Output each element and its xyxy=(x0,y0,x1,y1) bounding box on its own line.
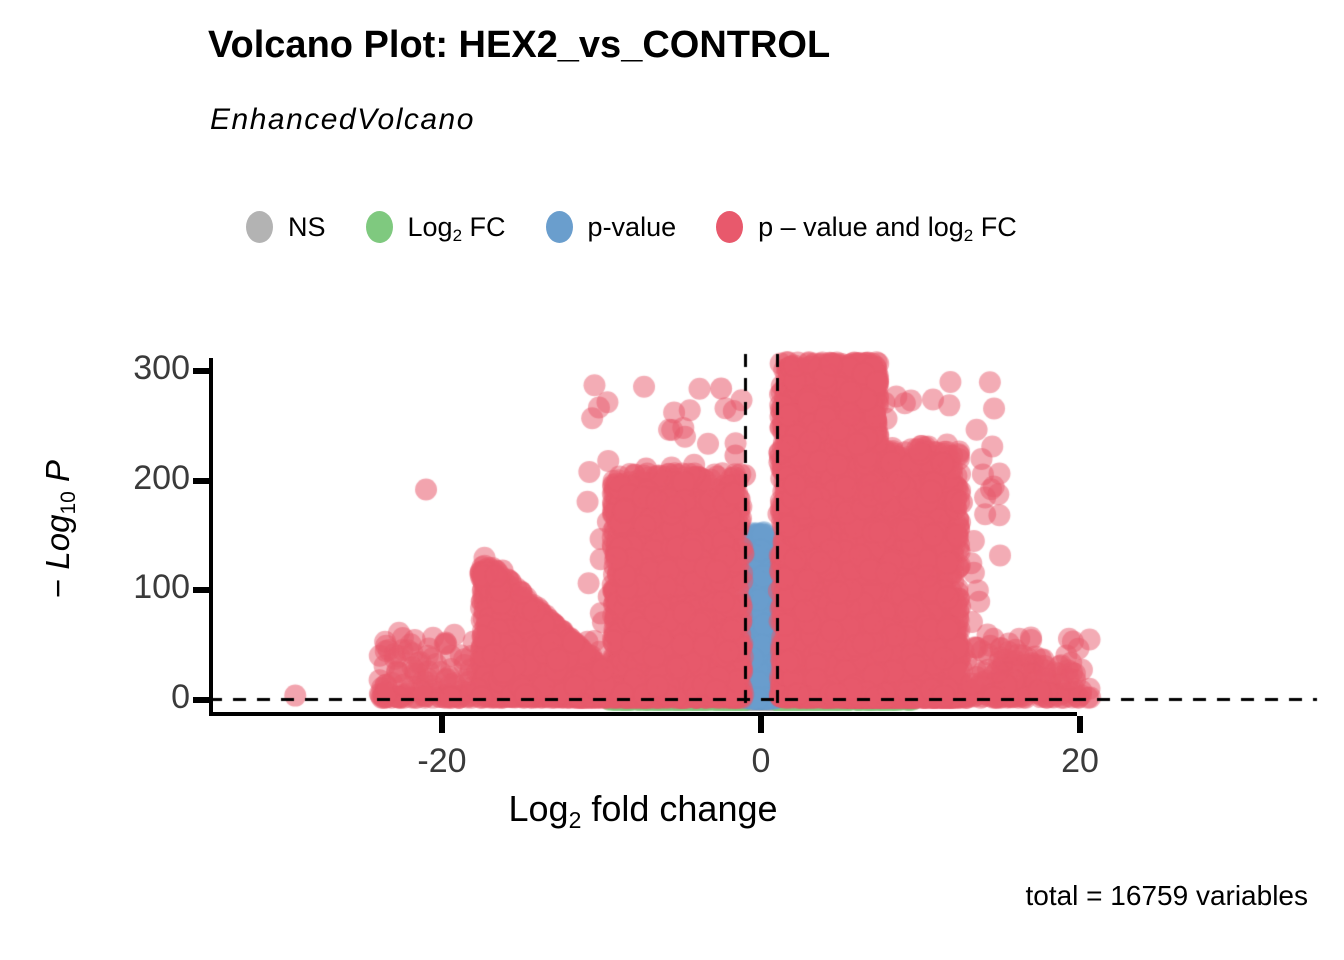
x-tick-mark xyxy=(758,716,764,733)
plot-panel: 0100200300 -20020 − Log10 P Log2 fold ch… xyxy=(0,0,1344,960)
y-tick-mark xyxy=(193,478,210,484)
x-tick-mark xyxy=(439,716,445,733)
total-variables-caption: total = 16759 variables xyxy=(1025,880,1308,912)
x-tick-mark xyxy=(1077,716,1083,733)
x-tick-label: 20 xyxy=(1061,742,1099,781)
y-tick-label: 300 xyxy=(133,349,190,388)
x-axis-title: Log2 fold change xyxy=(209,788,1077,830)
volcano-plot-page: Volcano Plot: HEX2_vs_CONTROL EnhancedVo… xyxy=(0,0,1344,960)
y-axis-line xyxy=(209,358,213,716)
y-tick-mark xyxy=(193,587,210,593)
x-tick-label: 0 xyxy=(752,742,771,781)
x-axis-line xyxy=(209,712,1077,716)
y-axis-title: − Log10 P xyxy=(39,379,77,679)
y-tick-label: 0 xyxy=(171,678,190,717)
y-tick-mark xyxy=(193,368,210,374)
y-tick-label: 200 xyxy=(133,459,190,498)
y-tick-mark xyxy=(193,697,210,703)
x-tick-label: -20 xyxy=(417,742,466,781)
y-tick-label: 100 xyxy=(133,568,190,607)
